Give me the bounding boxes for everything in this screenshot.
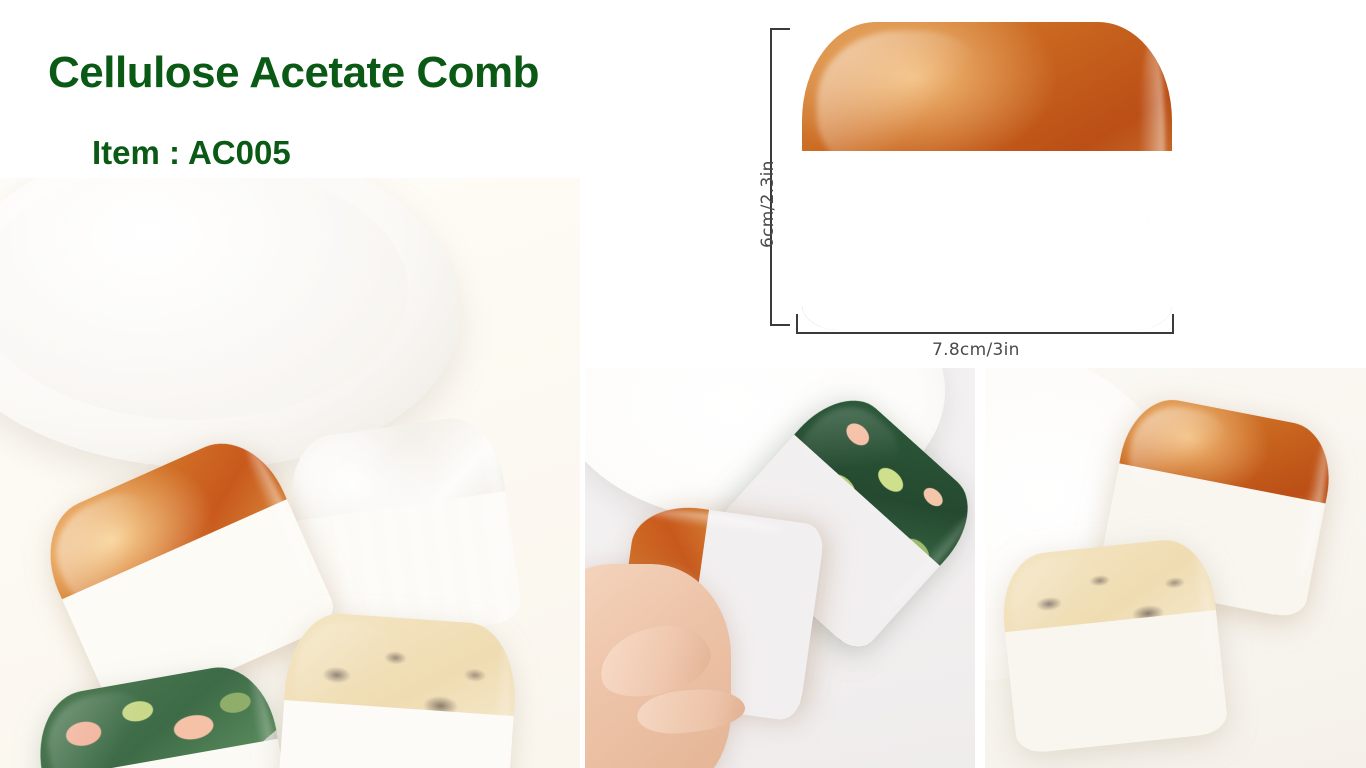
dim-horizontal-cap-left [796, 314, 798, 334]
hero-comb-body [802, 22, 1172, 330]
dim-horizontal-cap-right [1172, 314, 1174, 334]
cream-comb-body [997, 535, 1229, 754]
dim-height-label: 6cm/2.3in [758, 160, 778, 248]
terrazzo-comb-body [29, 659, 300, 768]
terrazzo-comb [29, 659, 300, 768]
hand-holding-comb-photo: · · · · · · · · [585, 368, 975, 768]
cream-comb [274, 610, 520, 768]
page-title: Cellulose Acetate Comb [48, 48, 539, 98]
cream-comb [997, 535, 1229, 754]
dim-vertical-cap-bottom [770, 324, 790, 326]
hero-comb [802, 22, 1172, 330]
product-showcase-page: Cellulose Acetate Comb Item : AC005 [0, 0, 1366, 768]
four-comb-lifestyle-photo [0, 178, 580, 768]
dim-horizontal-line [796, 332, 1174, 334]
dim-width-label: 7.8cm/3in [932, 340, 1020, 360]
item-code-label: Item : AC005 [92, 134, 291, 172]
two-comb-photo: · · · · · [985, 368, 1366, 768]
hero-product-photo: 6cm/2.3in 7.8cm/3in [580, 0, 1366, 368]
dim-vertical-cap-top [770, 28, 790, 30]
cream-comb-body [274, 610, 520, 768]
